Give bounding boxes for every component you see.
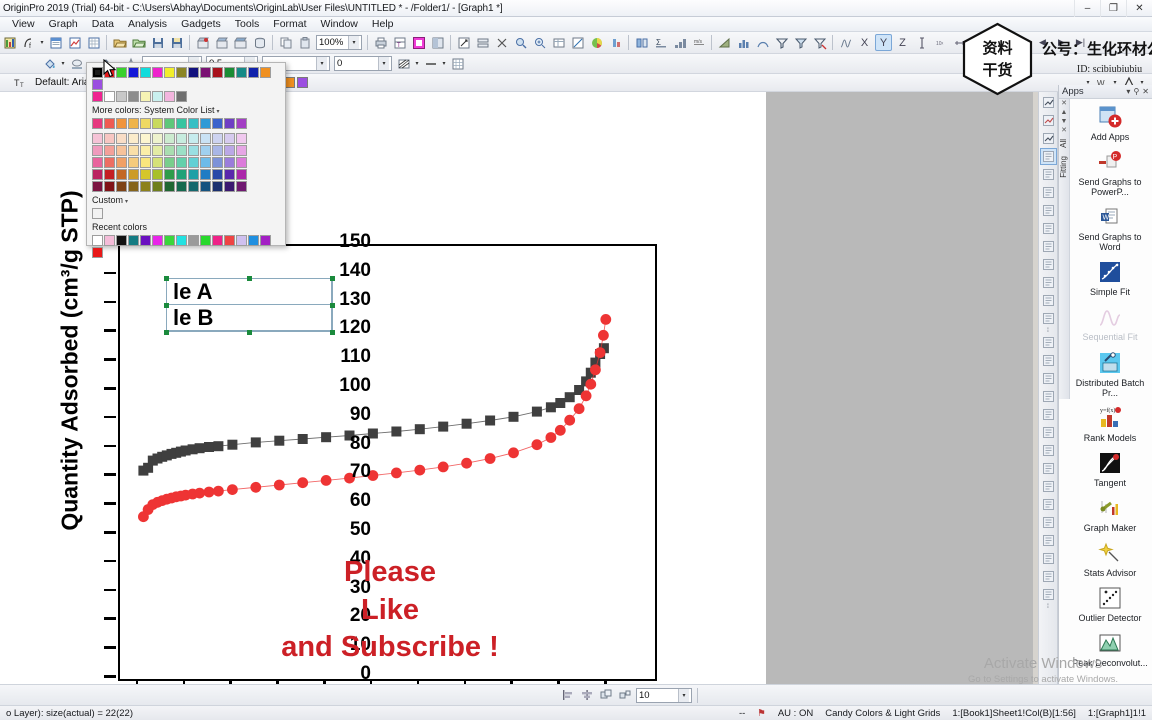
- color-swatch[interactable]: [164, 145, 175, 156]
- selection-handle[interactable]: [247, 276, 252, 281]
- legend-entry-a[interactable]: le A: [166, 278, 332, 305]
- color-swatch[interactable]: [164, 133, 175, 144]
- color-swatch[interactable]: [128, 118, 139, 129]
- color-swatch[interactable]: [188, 133, 199, 144]
- chevron-down-icon[interactable]: ▾: [1126, 87, 1130, 96]
- color-swatch[interactable]: [128, 169, 139, 180]
- color-swatch[interactable]: [212, 118, 223, 129]
- color-swatch[interactable]: [104, 157, 115, 168]
- duplicate-icon[interactable]: [1040, 202, 1057, 219]
- color-swatch[interactable]: [212, 133, 223, 144]
- print-icon[interactable]: [372, 34, 389, 51]
- chevron-down-icon[interactable]: ▾: [125, 199, 128, 205]
- flag-icon[interactable]: ⚑: [751, 708, 772, 719]
- color-swatch[interactable]: [164, 181, 175, 192]
- color-swatch[interactable]: [236, 157, 247, 168]
- import-multiple-ascii-icon[interactable]: [232, 34, 249, 51]
- new-project-icon[interactable]: [1, 34, 18, 51]
- font-size-icon[interactable]: TT: [11, 74, 28, 91]
- color-row-primary[interactable]: [91, 66, 281, 90]
- color-swatch[interactable]: [200, 235, 211, 246]
- color-swatch[interactable]: [200, 67, 211, 78]
- color-swatch[interactable]: [92, 169, 103, 180]
- color-swatch[interactable]: [188, 235, 199, 246]
- align-bottom-icon[interactable]: [1040, 274, 1057, 291]
- custom-color-row[interactable]: [91, 207, 281, 219]
- color-swatch[interactable]: [224, 169, 235, 180]
- color-swatch[interactable]: [224, 181, 235, 192]
- app-item-word[interactable]: WSend Graphs to Word: [1070, 201, 1150, 256]
- save-project-icon[interactable]: [149, 34, 166, 51]
- pin-icon[interactable]: ⚲: [1133, 87, 1139, 96]
- move-layer-icon[interactable]: [1040, 478, 1057, 495]
- open-excel-icon[interactable]: [130, 34, 147, 51]
- layer-contents-icon[interactable]: [1040, 370, 1057, 387]
- color-swatch[interactable]: [92, 181, 103, 192]
- color-swatch[interactable]: [176, 169, 187, 180]
- activate-windows-watermark: Activate Windows Go to Settings to activ…: [958, 655, 1128, 685]
- color-swatch[interactable]: [176, 181, 187, 192]
- data-reader-icon[interactable]: [512, 34, 529, 51]
- tab-all[interactable]: All: [1059, 135, 1070, 152]
- pattern-width-icon[interactable]: [422, 55, 439, 72]
- group-icon[interactable]: [597, 687, 614, 704]
- workspace-background: [766, 92, 1033, 684]
- color-swatch[interactable]: [92, 208, 103, 219]
- color-swatch[interactable]: [104, 181, 115, 192]
- color-swatch[interactable]: [212, 169, 223, 180]
- toolbar-separator: [697, 688, 698, 703]
- status-bar: o Layer): size(actual) = 22(22) -- ⚑ AU …: [0, 705, 1152, 720]
- color-swatch[interactable]: [116, 169, 127, 180]
- color-swatch[interactable]: [236, 169, 247, 180]
- frame-icon[interactable]: [1040, 586, 1057, 603]
- simple-fit-icon: [1097, 259, 1123, 285]
- scatter-tool-icon[interactable]: [1040, 94, 1057, 111]
- color-swatch[interactable]: [152, 118, 163, 129]
- layer-link-icon[interactable]: [1040, 388, 1057, 405]
- selection-handle[interactable]: [330, 330, 335, 335]
- group-objects-icon[interactable]: [1040, 568, 1057, 585]
- app-item-rank-models[interactable]: y=f(x)Rank Models: [1070, 402, 1150, 447]
- recent-color-row[interactable]: [91, 234, 281, 258]
- new-function-dropdown-icon[interactable]: ▾: [38, 35, 46, 50]
- chevron-down-icon[interactable]: ▾: [378, 57, 389, 70]
- color-swatch[interactable]: [116, 235, 127, 246]
- color-swatch[interactable]: [140, 235, 151, 246]
- menu-tools[interactable]: Tools: [228, 17, 267, 32]
- layer-manage-icon[interactable]: [1040, 352, 1057, 369]
- color-swatch[interactable]: [140, 67, 151, 78]
- color-swatch[interactable]: [140, 181, 151, 192]
- color-swatch[interactable]: [104, 91, 115, 102]
- color-swatch[interactable]: [188, 169, 199, 180]
- data-selector-icon[interactable]: [1040, 166, 1057, 183]
- color-swatch[interactable]: [116, 91, 127, 102]
- legend-icon[interactable]: [474, 34, 491, 51]
- rescale-icon[interactable]: [455, 34, 472, 51]
- copy-icon[interactable]: [277, 34, 294, 51]
- color-swatch[interactable]: [104, 145, 115, 156]
- stack-layer-icon[interactable]: [1040, 460, 1057, 477]
- system-color-row[interactable]: [91, 117, 281, 129]
- copy-page-icon[interactable]: [1040, 184, 1057, 201]
- stats-rows-icon[interactable]: Σ: [652, 34, 669, 51]
- color-swatch[interactable]: [236, 133, 247, 144]
- color-swatch[interactable]: [224, 157, 235, 168]
- layout-icon[interactable]: T: [391, 34, 408, 51]
- color-swatch[interactable]: [236, 235, 247, 246]
- align-left-icon[interactable]: [1040, 238, 1057, 255]
- color-grid-row[interactable]: [91, 144, 281, 156]
- draw-data-icon[interactable]: [1040, 112, 1057, 129]
- align-top-icon[interactable]: [1040, 256, 1057, 273]
- data-point: [213, 486, 224, 497]
- color-swatch[interactable]: [176, 67, 187, 78]
- color-swatch[interactable]: [104, 235, 115, 246]
- color-swatch[interactable]: [140, 169, 151, 180]
- selection-handle[interactable]: [164, 330, 169, 335]
- color-swatch[interactable]: [200, 157, 211, 168]
- color-swatch[interactable]: [224, 235, 235, 246]
- apps-panel-tabs: ✕▲▼✕ All Fitting: [1059, 99, 1070, 399]
- menu-window[interactable]: Window: [314, 17, 365, 32]
- save-template-icon[interactable]: [168, 34, 185, 51]
- color-swatch[interactable]: [248, 235, 259, 246]
- rank-models-icon: y=f(x): [1097, 405, 1123, 431]
- color-swatch[interactable]: [200, 169, 211, 180]
- menu-view[interactable]: View: [5, 17, 42, 32]
- apps-list[interactable]: Add AppsPSend Graphs to PowerP...WSend G…: [1070, 99, 1152, 699]
- color-swatch[interactable]: [164, 118, 175, 129]
- color-swatch[interactable]: [104, 118, 115, 129]
- layer-arrange-icon[interactable]: [1040, 442, 1057, 459]
- color-swatch[interactable]: [176, 145, 187, 156]
- fill-color-icon[interactable]: [41, 55, 58, 72]
- color-swatch[interactable]: [116, 181, 127, 192]
- data-point: [194, 488, 205, 499]
- app-item-tangent[interactable]: Tangent: [1070, 447, 1150, 492]
- chevron-down-icon[interactable]: ▾: [678, 689, 689, 702]
- color-swatch[interactable]: [188, 157, 199, 168]
- bring-front-icon[interactable]: [1040, 514, 1057, 531]
- color-grid-row[interactable]: [91, 156, 281, 168]
- y-function-icon[interactable]: Y: [875, 34, 892, 51]
- app-item-distributed-batch[interactable]: Distributed Batch Pr...: [1070, 347, 1150, 402]
- minimize-button[interactable]: –: [1074, 0, 1100, 17]
- color-swatch[interactable]: [164, 91, 175, 102]
- filter-clear-icon[interactable]: [811, 34, 828, 51]
- transparency-value: 0: [337, 58, 342, 69]
- x-function-icon[interactable]: X: [856, 34, 873, 51]
- color-swatch[interactable]: [200, 118, 211, 129]
- y-axis-tick: [104, 646, 116, 649]
- color-swatch[interactable]: [140, 145, 151, 156]
- selection-handle[interactable]: [247, 330, 252, 335]
- color-swatch[interactable]: [236, 181, 247, 192]
- color-swatch[interactable]: [212, 235, 223, 246]
- project-explorer-icon[interactable]: [429, 34, 446, 51]
- import-database-icon[interactable]: [251, 34, 268, 51]
- grid-icon[interactable]: [449, 55, 466, 72]
- swap-layer-icon[interactable]: [1040, 424, 1057, 441]
- color-swatch[interactable]: [188, 118, 199, 129]
- color-swatch[interactable]: [92, 79, 103, 90]
- color-swatch[interactable]: [212, 181, 223, 192]
- extract-layer-icon[interactable]: [1040, 406, 1057, 423]
- color-swatch[interactable]: [128, 181, 139, 192]
- color-swatch[interactable]: [92, 91, 103, 102]
- color-swatch[interactable]: [224, 145, 235, 156]
- data-point: [461, 458, 472, 469]
- add-data-icon[interactable]: [607, 34, 624, 51]
- menu-graph[interactable]: Graph: [42, 17, 85, 32]
- menu-format[interactable]: Format: [266, 17, 313, 32]
- color-swatch[interactable]: [224, 67, 235, 78]
- filter-apply-icon[interactable]: [792, 34, 809, 51]
- color-swatch[interactable]: [188, 67, 199, 78]
- color-swatch[interactable]: [224, 133, 235, 144]
- custom-label[interactable]: Custom▾: [91, 192, 281, 207]
- new-function-icon[interactable]: f: [20, 34, 37, 51]
- color-swatch[interactable]: [248, 67, 259, 78]
- normalize-icon[interactable]: m/s: [690, 34, 707, 51]
- menu-analysis[interactable]: Analysis: [121, 17, 174, 32]
- regional-mask-icon[interactable]: [1040, 130, 1057, 147]
- ungroup-icon[interactable]: [616, 687, 633, 704]
- color-swatch[interactable]: [188, 181, 199, 192]
- selection-handle[interactable]: [164, 303, 169, 308]
- mask-icon[interactable]: [569, 34, 586, 51]
- color-swatch[interactable]: [200, 133, 211, 144]
- color-swatch[interactable]: [176, 91, 187, 102]
- data-point: [555, 425, 566, 436]
- error-bar-icon[interactable]: [913, 34, 930, 51]
- color-swatch[interactable]: [92, 133, 103, 144]
- color-swatch[interactable]: [176, 118, 187, 129]
- chevron-down-icon[interactable]: ▾: [316, 57, 327, 70]
- app-item-powerpoint[interactable]: PSend Graphs to PowerP...: [1070, 146, 1150, 201]
- color-swatch[interactable]: [92, 145, 103, 156]
- color-swatch[interactable]: [164, 235, 175, 246]
- color-swatch[interactable]: [92, 118, 103, 129]
- color-swatch[interactable]: [212, 145, 223, 156]
- apps-panel-title: Apps: [1062, 86, 1084, 97]
- color-swatch[interactable]: [236, 118, 247, 129]
- data-point: [227, 484, 238, 495]
- bottom-toolbar: 10 ▾: [0, 684, 1152, 705]
- object-edit-icon[interactable]: [1040, 550, 1057, 567]
- screen-reader-icon[interactable]: [1040, 148, 1057, 165]
- activate-windows-subtitle: Go to Settings to activate Windows.: [958, 674, 1128, 685]
- color-swatch[interactable]: [140, 91, 151, 102]
- color-swatch[interactable]: [92, 157, 103, 168]
- color-picker-dropdown[interactable]: More colors: System Color List▾ Custom▾ …: [86, 62, 286, 246]
- import-single-ascii-icon[interactable]: [213, 34, 230, 51]
- color-swatch[interactable]: [116, 133, 127, 144]
- open-project-icon[interactable]: [111, 34, 128, 51]
- color-swatch[interactable]: [152, 169, 163, 180]
- color-swatch[interactable]: [152, 145, 163, 156]
- import-wizard-icon[interactable]: [194, 34, 211, 51]
- zoom-combo[interactable]: 100% ▾: [316, 35, 362, 50]
- new-layout-icon[interactable]: [410, 34, 427, 51]
- app-item-stats-advisor[interactable]: Stats Advisor: [1070, 537, 1150, 582]
- transparency-combo[interactable]: 0 ▾: [334, 56, 392, 71]
- color-swatch[interactable]: [176, 133, 187, 144]
- color-swatch[interactable]: [152, 235, 163, 246]
- color-swatch[interactable]: [116, 67, 127, 78]
- color-grid-row[interactable]: [91, 132, 281, 144]
- color-swatch[interactable]: [200, 181, 211, 192]
- color-swatch[interactable]: [92, 247, 103, 258]
- color-swatch[interactable]: [188, 145, 199, 156]
- color-wheel-icon[interactable]: [588, 34, 605, 51]
- app-item-add-apps[interactable]: Add Apps: [1070, 101, 1150, 146]
- color-swatch[interactable]: [128, 67, 139, 78]
- object-size-combo[interactable]: 10 ▾: [636, 688, 692, 703]
- layer-add-icon[interactable]: [1040, 334, 1057, 351]
- color-grid-row[interactable]: [91, 168, 281, 180]
- color-swatch[interactable]: [104, 169, 115, 180]
- color-swatch[interactable]: [92, 235, 103, 246]
- app-item-simple-fit[interactable]: Simple Fit: [1070, 256, 1150, 301]
- color-grid-row[interactable]: [91, 180, 281, 192]
- color-swatch[interactable]: [140, 133, 151, 144]
- color-swatch[interactable]: [152, 133, 163, 144]
- color-swatch[interactable]: [152, 67, 163, 78]
- new-matrix-icon[interactable]: [85, 34, 102, 51]
- color-swatch[interactable]: [164, 67, 175, 78]
- y-axis-tick: [104, 589, 116, 592]
- more-colors-label[interactable]: More colors: System Color List▾: [91, 102, 281, 117]
- color-swatch[interactable]: [140, 157, 151, 168]
- selection-handle[interactable]: [330, 303, 335, 308]
- font-color-swatch[interactable]: [297, 77, 308, 88]
- menu-data[interactable]: Data: [85, 17, 121, 32]
- scale-icon[interactable]: [493, 34, 510, 51]
- align-right-icon[interactable]: [1040, 292, 1057, 309]
- color-swatch[interactable]: [200, 145, 211, 156]
- close-button[interactable]: ✕: [1126, 0, 1152, 17]
- new-graph-icon[interactable]: [66, 34, 83, 51]
- color-swatch[interactable]: [92, 67, 103, 78]
- menu-gadgets[interactable]: Gadgets: [174, 17, 228, 32]
- y-axis-tick: [104, 675, 116, 678]
- annotation-line-1: Please: [180, 554, 600, 592]
- status-graph-ref: 1:[Graph1]1!1: [1082, 708, 1152, 719]
- zoom-in-icon[interactable]: [531, 34, 548, 51]
- color-swatch[interactable]: [116, 145, 127, 156]
- color-swatch[interactable]: [128, 235, 139, 246]
- histogram-icon[interactable]: [754, 34, 771, 51]
- app-item-outlier-detector[interactable]: Outlier Detector: [1070, 582, 1150, 627]
- align-center-icon[interactable]: [578, 687, 595, 704]
- color-swatch[interactable]: [164, 157, 175, 168]
- status-right-group: -- ⚑ AU : ON Candy Colors & Light Grids …: [733, 708, 1152, 719]
- color-swatch[interactable]: [128, 145, 139, 156]
- close-icon[interactable]: ✕: [1142, 87, 1149, 96]
- line-plot-icon[interactable]: [716, 34, 733, 51]
- color-swatch[interactable]: [152, 91, 163, 102]
- align-left-icon[interactable]: [559, 687, 576, 704]
- pattern-width-dropdown-icon[interactable]: ▾: [440, 56, 448, 71]
- color-swatch[interactable]: [260, 235, 271, 246]
- color-swatch[interactable]: [104, 67, 115, 78]
- column-plot-icon[interactable]: [735, 34, 752, 51]
- worksheet-icon[interactable]: [550, 34, 567, 51]
- color-swatch[interactable]: [152, 181, 163, 192]
- data-point: [204, 487, 215, 498]
- color-swatch[interactable]: [140, 118, 151, 129]
- color-swatch[interactable]: [128, 133, 139, 144]
- color-swatch[interactable]: [260, 67, 271, 78]
- color-grid[interactable]: [91, 132, 281, 192]
- watermark-hexagon: 资料 干货: [960, 22, 1035, 96]
- color-swatch[interactable]: [236, 67, 247, 78]
- app-item-graph-maker[interactable]: Graph Maker: [1070, 492, 1150, 537]
- graph-legend[interactable]: le A le B: [166, 278, 333, 332]
- send-back-icon[interactable]: [1040, 532, 1057, 549]
- recent-colors-label: Recent colors: [91, 219, 281, 234]
- color-swatch[interactable]: [212, 157, 223, 168]
- chevron-down-icon[interactable]: ▾: [348, 36, 359, 49]
- filter-icon[interactable]: [773, 34, 790, 51]
- axis-scale-icon[interactable]: 10ᵡ: [932, 34, 949, 51]
- pattern-fill-icon[interactable]: [395, 55, 412, 72]
- z-function-icon[interactable]: Z: [894, 34, 911, 51]
- color-swatch[interactable]: [104, 133, 115, 144]
- color-swatch[interactable]: [152, 157, 163, 168]
- menu-help[interactable]: Help: [365, 17, 401, 32]
- maximize-button[interactable]: ❐: [1100, 0, 1126, 17]
- color-swatch[interactable]: [128, 91, 139, 102]
- zoom-value: 100%: [319, 37, 343, 48]
- pattern-color-icon[interactable]: [68, 55, 85, 72]
- color-swatch[interactable]: [164, 169, 175, 180]
- color-swatch[interactable]: [236, 145, 247, 156]
- color-row-secondary[interactable]: [91, 90, 281, 102]
- color-swatch[interactable]: [128, 157, 139, 168]
- color-swatch[interactable]: [116, 118, 127, 129]
- layer-order-icon[interactable]: [1040, 496, 1057, 513]
- color-swatch[interactable]: [176, 235, 187, 246]
- app-item-sequential-fit[interactable]: Sequential Fit: [1070, 301, 1150, 346]
- selection-handle[interactable]: [330, 276, 335, 281]
- status-theme: Candy Colors & Light Grids: [819, 708, 946, 719]
- pattern-fill-dropdown-icon[interactable]: ▾: [413, 56, 421, 71]
- data-point: [414, 465, 425, 476]
- color-swatch[interactable]: [116, 157, 127, 168]
- new-workbook-icon[interactable]: [47, 34, 64, 51]
- fill-color-dropdown-icon[interactable]: ▾: [59, 56, 67, 71]
- color-swatch[interactable]: [212, 67, 223, 78]
- stats-columns-icon[interactable]: [633, 34, 650, 51]
- scroll-arrows[interactable]: ✕▲▼✕: [1059, 99, 1069, 135]
- color-swatch[interactable]: [224, 118, 235, 129]
- color-swatch[interactable]: [176, 157, 187, 168]
- powerpoint-icon: P: [1097, 149, 1123, 175]
- chevron-down-icon[interactable]: ▾: [217, 109, 220, 115]
- peak-analyzer-icon[interactable]: [837, 34, 854, 51]
- tab-fitting[interactable]: Fitting: [1059, 152, 1070, 182]
- paste-icon[interactable]: [296, 34, 313, 51]
- selection-handle[interactable]: [164, 276, 169, 281]
- legend-entry-b[interactable]: le B: [166, 304, 332, 331]
- merge-graph-icon[interactable]: [1040, 220, 1057, 237]
- align-middle-icon[interactable]: [1040, 310, 1057, 327]
- sort-icon[interactable]: [671, 34, 688, 51]
